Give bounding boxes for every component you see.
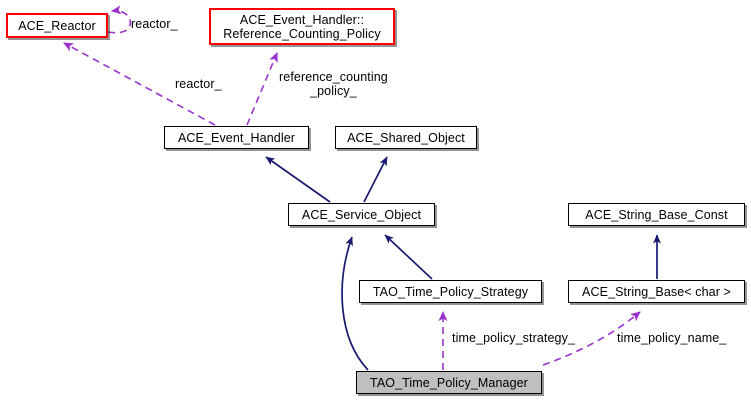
- edge-label-time-policy-name: time_policy_name_: [617, 331, 726, 345]
- node-label: ACE_Event_Handler: [178, 131, 295, 145]
- edge-eventhandler-refcount: [247, 53, 277, 125]
- node-label: ACE_Service_Object: [302, 208, 421, 222]
- node-label: ACE_String_Base< char >: [582, 285, 731, 299]
- node-label: TAO_Time_Policy_Manager: [370, 376, 528, 390]
- node-ace-event-handler[interactable]: ACE_Event_Handler: [164, 126, 309, 149]
- edge-label-reactor-self: reactor_: [131, 17, 178, 31]
- node-label: ACE_Shared_Object: [347, 131, 465, 145]
- node-ace-shared-object[interactable]: ACE_Shared_Object: [335, 126, 477, 149]
- edge-label-reactor-event-handler: reactor_: [175, 77, 222, 91]
- node-ace-string-base-char[interactable]: ACE_String_Base< char >: [568, 280, 745, 303]
- edge-manager-serviceobject: [342, 237, 368, 370]
- node-label: ACE_Reactor: [18, 19, 96, 33]
- node-ace-string-base-const[interactable]: ACE_String_Base_Const: [568, 203, 745, 226]
- node-label: TAO_Time_Policy_Strategy: [373, 285, 528, 299]
- node-ace-reactor[interactable]: ACE_Reactor: [6, 13, 108, 38]
- uml-collaboration-diagram: ACE_Reactor ACE_Event_Handler:: Referenc…: [0, 0, 751, 403]
- edge-serviceobject-sharedobject: [364, 157, 387, 202]
- edge-label-time-policy-strategy: time_policy_strategy_: [452, 331, 575, 345]
- node-tao-time-policy-manager[interactable]: TAO_Time_Policy_Manager: [356, 371, 542, 394]
- node-ace-event-handler-reference-counting-policy[interactable]: ACE_Event_Handler:: Reference_Counting_P…: [209, 8, 395, 45]
- node-ace-service-object[interactable]: ACE_Service_Object: [288, 203, 435, 226]
- node-label: ACE_String_Base_Const: [585, 208, 727, 222]
- node-tao-time-policy-strategy[interactable]: TAO_Time_Policy_Strategy: [359, 280, 542, 303]
- edge-strategy-serviceobject: [385, 235, 432, 279]
- edge-label-reference-counting-policy: reference_counting _policy_: [279, 70, 388, 98]
- edge-serviceobject-eventhandler: [266, 157, 330, 202]
- node-label: ACE_Event_Handler:: Reference_Counting_P…: [223, 13, 380, 41]
- edge-reactor-self: [108, 11, 130, 33]
